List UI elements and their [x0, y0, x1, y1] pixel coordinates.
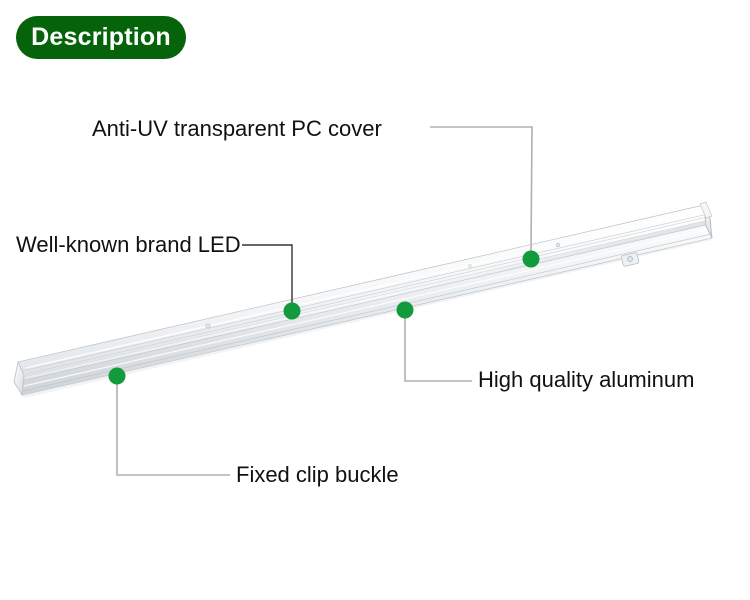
leader-line-anti-uv-cover: [430, 127, 532, 251]
callout-label-brand-led: Well-known brand LED: [16, 234, 241, 256]
callout-marker-high-quality-aluminum[interactable]: [397, 302, 414, 319]
callout-label-anti-uv-cover: Anti-UV transparent PC cover: [92, 118, 382, 140]
leader-line-fixed-clip-buckle: [117, 384, 230, 475]
callout-leader-lines: [0, 0, 750, 600]
callout-marker-anti-uv-cover[interactable]: [523, 251, 540, 268]
callout-label-fixed-clip-buckle: Fixed clip buckle: [236, 464, 399, 486]
leader-line-brand-led: [242, 245, 292, 303]
callout-marker-brand-led[interactable]: [284, 303, 301, 320]
callout-label-high-quality-aluminum: High quality aluminum: [478, 369, 694, 391]
description-badge-label: Description: [31, 25, 171, 50]
leader-line-high-quality-aluminum: [405, 318, 472, 381]
callout-marker-fixed-clip-buckle[interactable]: [109, 368, 126, 385]
description-badge: Description: [16, 16, 186, 59]
description-section: Anti-UV transparent PC cover Well-known …: [0, 0, 750, 600]
callout-layer: Anti-UV transparent PC cover Well-known …: [0, 0, 750, 600]
